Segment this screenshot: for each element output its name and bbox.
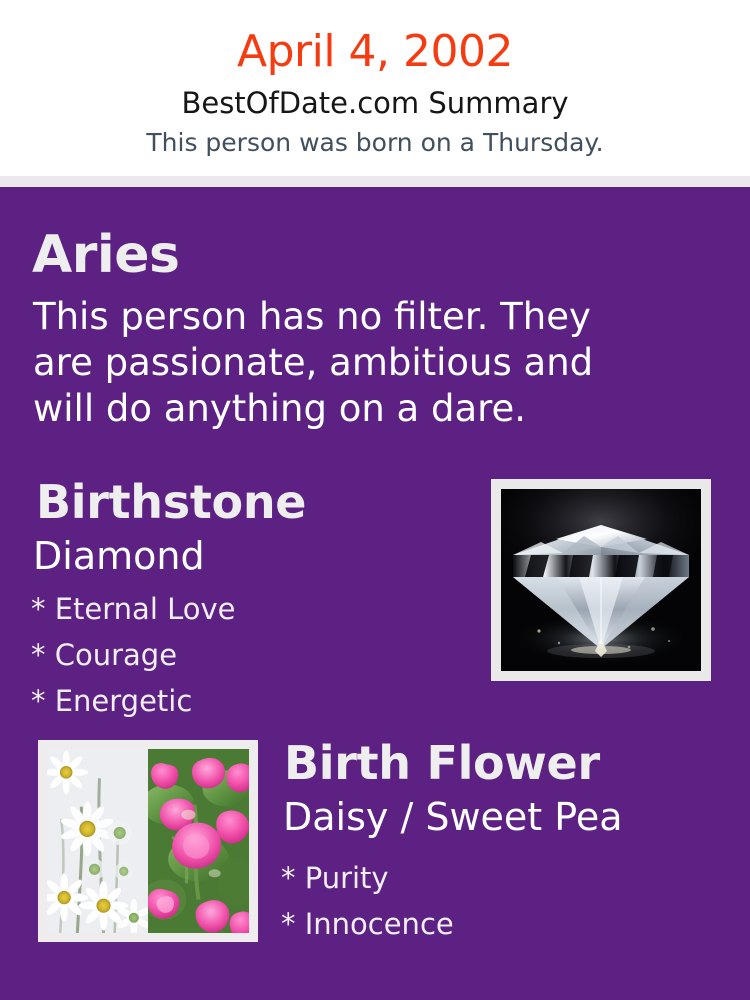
card-header: April 4, 2002 BestOfDate.com Summary Thi… [0,0,750,176]
daisy-sweet-pea-photo [47,749,249,933]
zodiac-sign-title: Aries [32,224,179,286]
diamond-icon [501,489,701,671]
list-item: * Eternal Love [31,586,236,632]
list-item: * Energetic [31,678,236,724]
page-title: April 4, 2002 [0,26,750,78]
sweet-pea-photo-half [148,749,249,933]
list-item: * Courage [31,632,236,678]
daisy-icon [47,749,148,933]
list-item: * Innocence [281,901,454,947]
diamond-photo [501,489,701,671]
birthstone-image-frame [491,479,711,681]
birthstone-traits-list: * Eternal Love * Courage * Energetic [31,586,236,724]
birthflower-name: Daisy / Sweet Pea [283,793,623,841]
born-on-weekday-text: This person was born on a Thursday. [0,128,750,158]
list-item: * Purity [281,855,454,901]
birthflower-traits-list: * Purity * Innocence [281,855,454,947]
birthflower-title: Birth Flower [284,735,600,791]
site-name: BestOfDate.com Summary [0,86,750,120]
daisy-photo-half [47,749,148,933]
birthday-summary-card: April 4, 2002 BestOfDate.com Summary Thi… [0,0,750,1000]
birthflower-image-frame [38,740,258,942]
sweet-pea-icon [148,749,249,933]
zodiac-description: This person has no filter. They are pass… [33,294,653,432]
birthstone-title: Birthstone [36,474,306,530]
birthstone-name: Diamond [33,532,205,580]
header-divider [0,176,750,187]
